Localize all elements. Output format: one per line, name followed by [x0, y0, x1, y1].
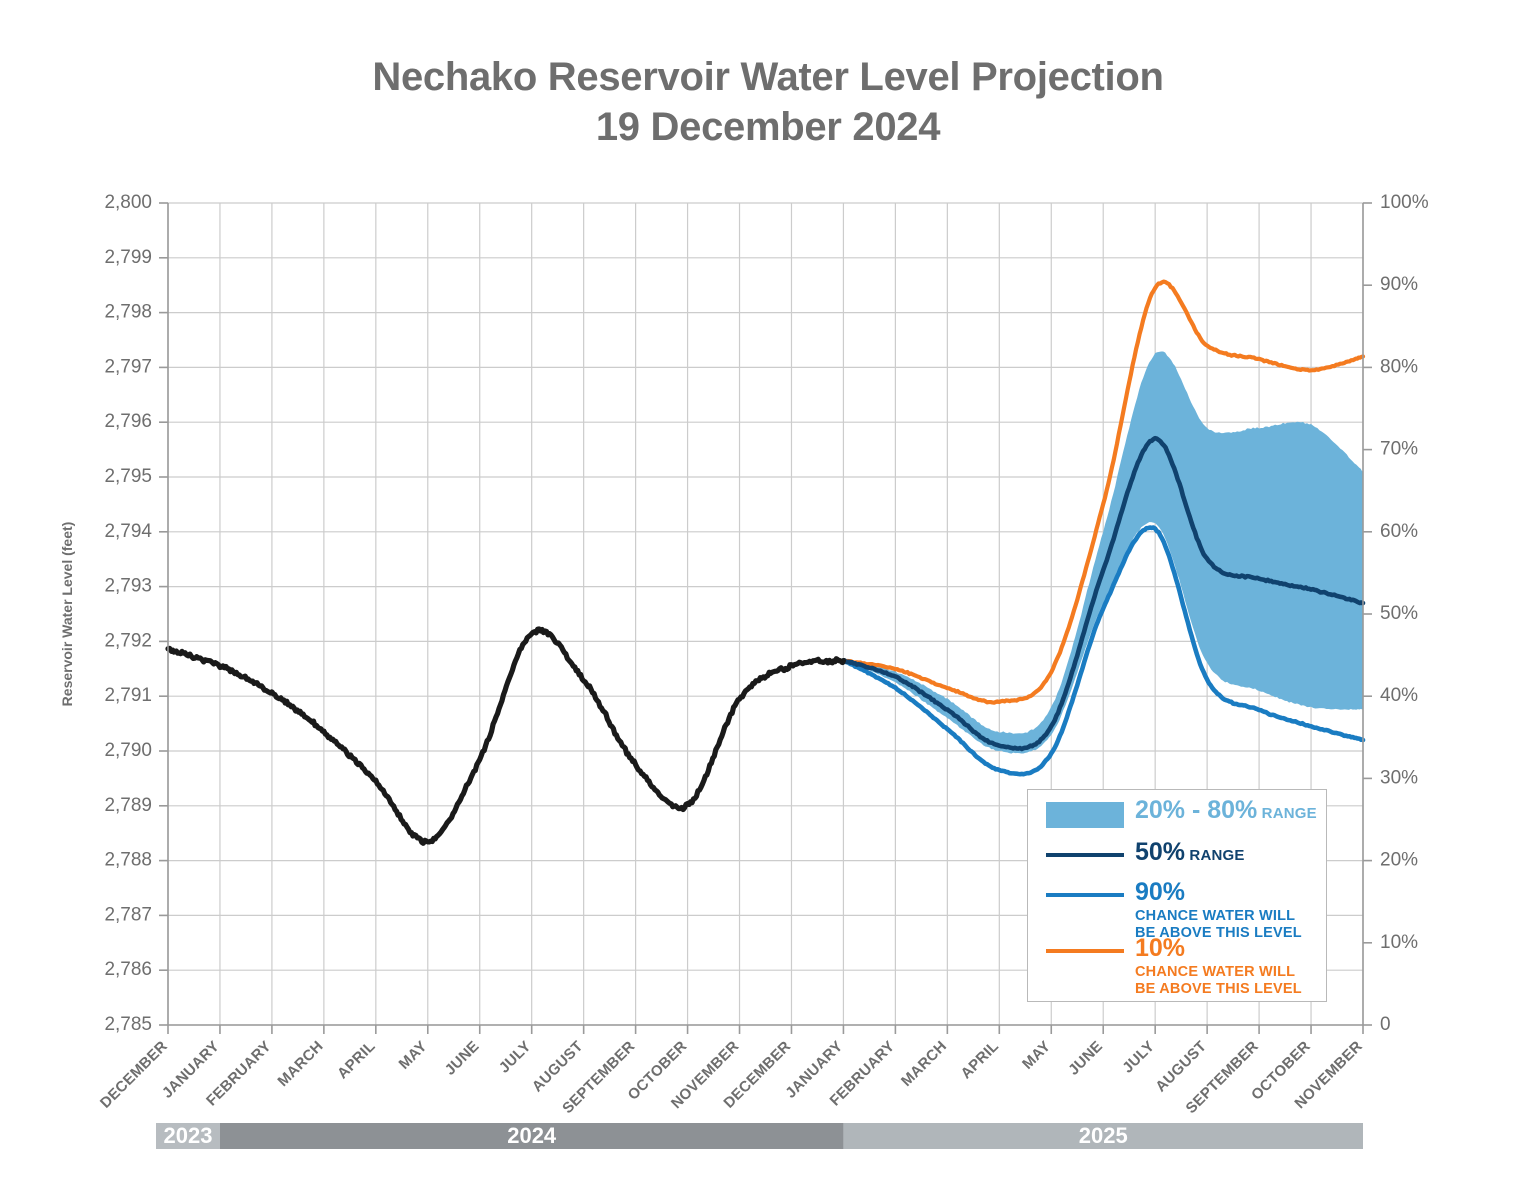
y-tick-left: 2,786 — [104, 959, 152, 980]
x-tick-label: APRIL — [334, 1038, 379, 1083]
y-tick-right: 30% — [1380, 767, 1418, 788]
y-tick-left: 2,799 — [104, 247, 152, 268]
y-tick-right: 100% — [1380, 192, 1429, 213]
y-tick-right: 60% — [1380, 521, 1418, 542]
y-tick-right: 70% — [1380, 439, 1418, 460]
legend-swatch-chance-90 — [1046, 893, 1124, 897]
y-tick-left: 2,788 — [104, 850, 152, 871]
y-axis-left-labels: 2,8002,7992,7982,7972,7962,7952,7942,793… — [104, 192, 168, 1035]
legend-sub-chance-10: CHANCE WATER WILL BE ABOVE THIS LEVEL — [1135, 964, 1302, 998]
y-tick-left: 2,787 — [104, 904, 152, 925]
x-tick-label: JUNE — [442, 1038, 483, 1079]
year-band-label: 2025 — [1079, 1123, 1128, 1148]
y-tick-left: 2,800 — [104, 192, 152, 213]
x-tick-label: MARCH — [898, 1038, 950, 1090]
legend-suffix-range-20-80: RANGE — [1257, 805, 1317, 822]
x-tick-label: JULY — [1119, 1038, 1158, 1077]
y-tick-right: 10% — [1380, 932, 1418, 953]
x-axis-labels: DECEMBERJANUARYFEBRUARYMARCHAPRILMAYJUNE… — [97, 1025, 1366, 1117]
y-tick-right: 50% — [1380, 603, 1418, 624]
y-tick-left: 2,785 — [104, 1014, 152, 1035]
legend-label-chance-10: 10% — [1135, 936, 1185, 961]
legend-label-chance-90: 90% — [1135, 880, 1185, 905]
y-tick-right: 40% — [1380, 685, 1418, 706]
x-tick-label: JUNE — [1065, 1038, 1106, 1079]
legend-label-range-50: 50% RANGE — [1135, 840, 1245, 868]
y-tick-left: 2,789 — [104, 795, 152, 816]
legend-suffix-range-50: RANGE — [1185, 847, 1245, 864]
y-tick-left: 2,798 — [104, 302, 152, 323]
legend: 20% - 80% RANGE50% RANGE90%CHANCE WATER … — [1027, 789, 1327, 1002]
plot-area: 2,8002,7992,7982,7972,7962,7952,7942,793… — [0, 0, 1536, 1187]
legend-swatch-chance-10 — [1046, 949, 1124, 953]
y-tick-left: 2,796 — [104, 411, 152, 432]
x-tick-label: MAY — [396, 1038, 431, 1073]
year-band-label: 2024 — [507, 1123, 557, 1148]
x-tick-label: APRIL — [958, 1038, 1003, 1083]
y-tick-right: 0 — [1380, 1014, 1391, 1035]
y-axis-right-labels: 100%90%80%70%60%50%40%30%20%10%0 — [1363, 192, 1429, 1035]
y-tick-left: 2,790 — [104, 740, 152, 761]
year-band-label: 2023 — [164, 1123, 213, 1148]
y-tick-left: 2,794 — [104, 521, 152, 542]
x-tick-label: JULY — [496, 1038, 535, 1077]
y-axis-title: Reservoir Water Level (feet) — [59, 522, 75, 707]
year-bands: 202320242025 — [156, 1123, 1363, 1149]
y-tick-right: 80% — [1380, 356, 1418, 377]
y-tick-left: 2,797 — [104, 356, 152, 377]
x-tick-label: DECEMBER — [97, 1038, 171, 1112]
chart-svg: 2,8002,7992,7982,7972,7962,7952,7942,793… — [0, 0, 1536, 1187]
legend-label-range-20-80: 20% - 80% RANGE — [1135, 798, 1317, 826]
y-tick-left: 2,791 — [104, 685, 152, 706]
y-tick-left: 2,792 — [104, 630, 152, 651]
y-tick-right: 90% — [1380, 274, 1418, 295]
y-tick-left: 2,795 — [104, 466, 152, 487]
x-tick-label: MARCH — [274, 1038, 326, 1090]
x-tick-label: MAY — [1019, 1038, 1054, 1073]
chart-page: Nechako Reservoir Water Level Projection… — [0, 0, 1536, 1187]
y-tick-right: 20% — [1380, 850, 1418, 871]
y-axis-title-text: Reservoir Water Level (feet) — [59, 522, 75, 707]
legend-swatch-range-20-80 — [1046, 802, 1124, 828]
y-tick-left: 2,793 — [104, 576, 152, 597]
legend-swatch-range-50 — [1046, 853, 1124, 857]
